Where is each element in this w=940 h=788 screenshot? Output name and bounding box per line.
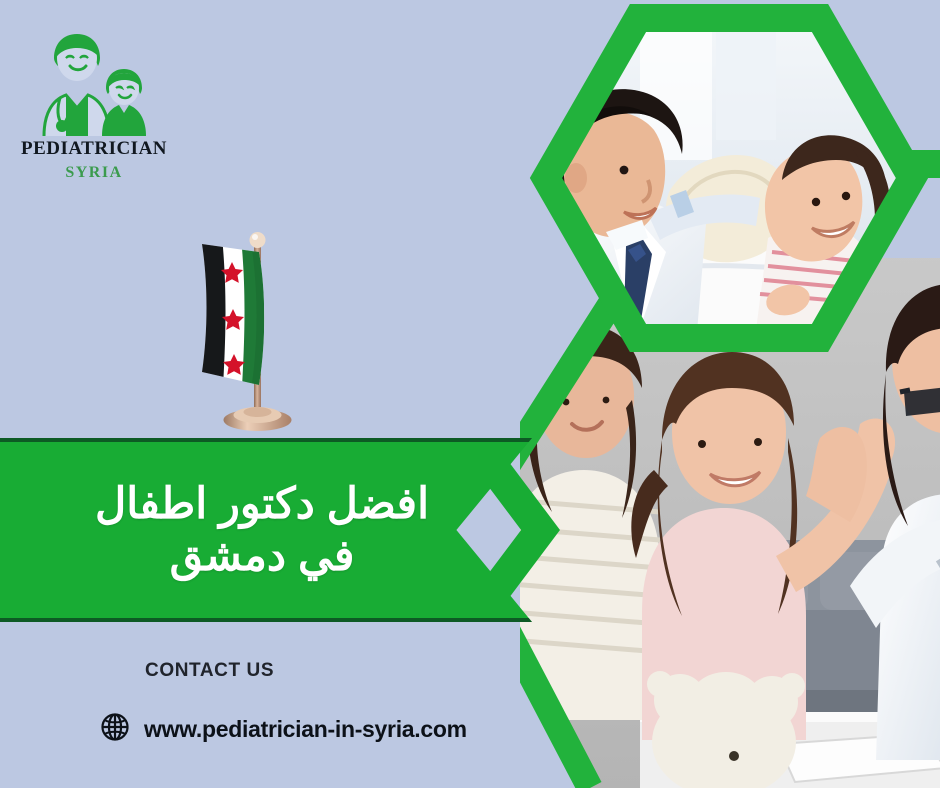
website-row[interactable]: www.pediatrician-in-syria.com [100,712,520,747]
headline-text-block: افضل دكتور اطفال في دمشق [27,478,497,583]
headline-line-1: افضل دكتور اطفال [27,478,497,530]
logo-subtitle: SYRIA [14,164,174,182]
photo-collage [520,0,940,788]
globe-icon [100,712,130,747]
logo-title: PEDIATRICIAN [14,138,174,160]
headline-line-2: في دمشق [27,530,497,582]
pediatrician-doctor-and-child-icon [24,28,164,136]
brand-logo: PEDIATRICIAN SYRIA [14,28,174,188]
poster-canvas: PEDIATRICIAN SYRIA [0,0,940,788]
headline-banner: افضل دكتور اطفال في دمشق [0,438,532,622]
website-url[interactable]: www.pediatrician-in-syria.com [144,716,467,743]
syrian-independence-flag-on-desk-stand [186,222,302,444]
contact-us-label: CONTACT US [145,660,520,682]
contact-section: CONTACT US www.pediatrician-in-syria.com [100,660,520,747]
